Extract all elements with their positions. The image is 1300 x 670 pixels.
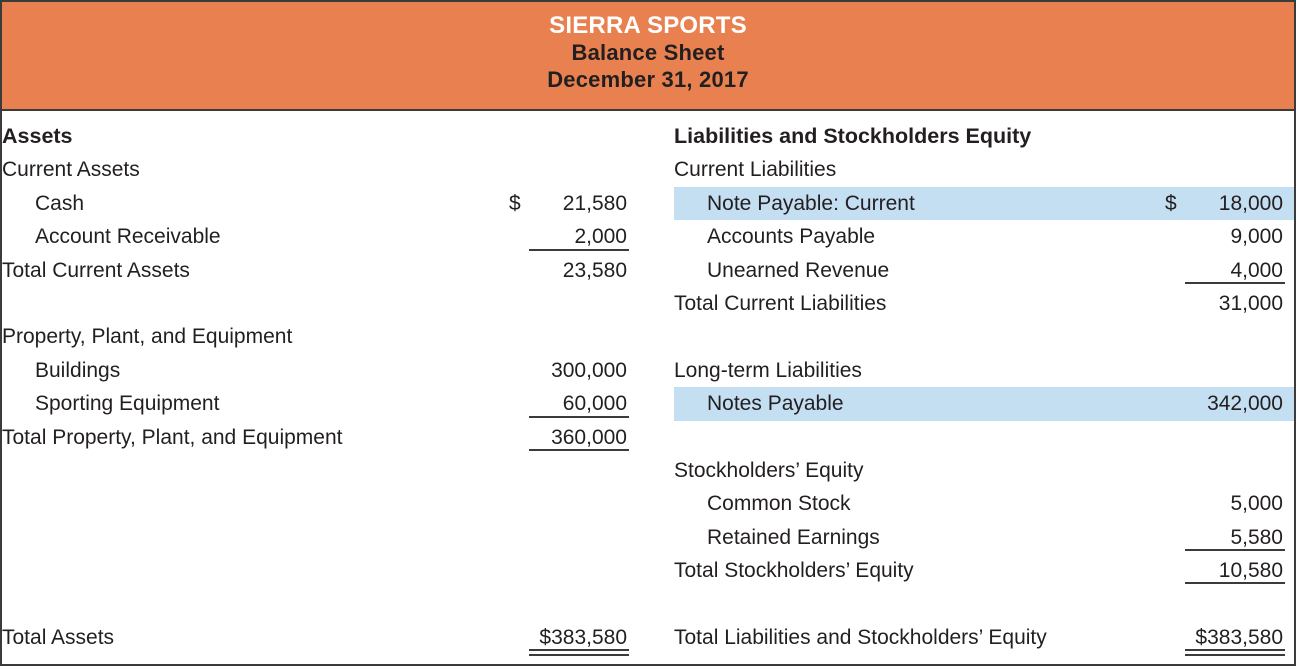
assets-rows: Current AssetsCash$21,580Account Receiva… [2,153,674,654]
line-item-amount: 21,580 [535,187,627,220]
amount-value: 4,000 [1230,259,1283,282]
line-item-label: Common Stock [674,487,1165,520]
amount-value: 23,580 [563,259,627,282]
line-item-amount: $383,580 [1191,621,1283,654]
line-item-row: Cash$21,580 [2,187,674,220]
amount-value: 21,580 [563,192,627,215]
spacer-row [2,554,674,587]
assets-heading: Assets [2,120,674,153]
spacer-row [2,587,674,620]
line-item-label: Buildings [2,354,509,387]
currency-symbol: $ [1165,187,1191,220]
line-item-row: Total Liabilities and Stockholders’ Equi… [674,621,1294,654]
assets-column: Assets Current AssetsCash$21,580Account … [2,111,674,664]
line-item-row: Current Liabilities [674,153,1294,186]
line-item-label: Total Current Liabilities [674,287,1165,320]
line-item-row: Account Receivable2,000 [2,220,674,253]
spacer-row [2,521,674,554]
single-rule [1185,582,1285,584]
liabilities-equity-rows: Current LiabilitiesNote Payable: Current… [674,153,1294,654]
line-item-label: Sporting Equipment [2,387,509,420]
spacer-row [2,287,674,320]
amount-value: 9,000 [1230,225,1283,248]
line-item-row: Long-term Liabilities [674,354,1294,387]
line-item-label: Accounts Payable [674,220,1165,253]
line-item-amount: 5,000 [1191,487,1283,520]
statement-title: Balance Sheet [2,40,1294,67]
line-item-amount: 342,000 [1191,387,1283,420]
spacer-row [2,487,674,520]
single-rule [1185,282,1285,284]
line-item-amount: 4,000 [1191,254,1283,287]
line-item-label: Property, Plant, and Equipment [2,320,509,353]
amount-value: 342,000 [1207,392,1283,415]
line-item-amount: 2,000 [535,220,627,253]
line-item-amount: 60,000 [535,387,627,420]
double-rule-lower [529,654,629,656]
line-item-row: Buildings300,000 [2,354,674,387]
line-item-row: Stockholders’ Equity [674,454,1294,487]
line-item-row: Total Stockholders’ Equity10,580 [674,554,1294,587]
line-item-label: Total Liabilities and Stockholders’ Equi… [674,621,1165,654]
currency-symbol: $ [509,187,535,220]
amount-value: 2,000 [574,225,627,248]
line-item-label: Cash [2,187,509,220]
line-item-amount: 31,000 [1191,287,1283,320]
spacer-row [674,421,1294,454]
line-item-label: Total Stockholders’ Equity [674,554,1165,587]
line-item-amount: 18,000 [1191,187,1283,220]
line-item-label: Stockholders’ Equity [674,454,1165,487]
single-rule [529,449,629,451]
line-item-row: Sporting Equipment60,000 [2,387,674,420]
line-item-row: Accounts Payable9,000 [674,220,1294,253]
balance-sheet: SIERRA SPORTS Balance Sheet December 31,… [0,0,1296,666]
line-item-label: Account Receivable [2,220,509,253]
amount-value: 5,580 [1230,526,1283,549]
line-item-label: Total Property, Plant, and Equipment [2,421,509,454]
line-item-row: Common Stock5,000 [674,487,1294,520]
amount-value: 60,000 [563,392,627,415]
line-item-label: Retained Earnings [674,521,1165,554]
double-rule-upper [1185,649,1285,651]
line-item-label: Total Assets [2,621,509,654]
line-item-amount: 10,580 [1191,554,1283,587]
single-rule [529,249,629,251]
line-item-row: Total Current Liabilities31,000 [674,287,1294,320]
amount-value: $383,580 [1195,626,1283,649]
amount-value: 18,000 [1219,192,1283,215]
line-item-amount: 9,000 [1191,220,1283,253]
liabilities-equity-column: Liabilities and Stockholders Equity Curr… [674,111,1294,664]
amount-value: 300,000 [551,359,627,382]
line-item-row: Note Payable: Current$18,000 [674,187,1294,220]
line-item-row: Unearned Revenue4,000 [674,254,1294,287]
line-item-label: Notes Payable [674,387,1165,420]
line-item-row: Current Assets [2,153,674,186]
double-rule-upper [529,649,629,651]
line-item-row: Total Assets$383,580 [2,621,674,654]
line-item-row: Retained Earnings5,580 [674,521,1294,554]
line-item-amount: 360,000 [535,421,627,454]
spacer-row [2,454,674,487]
liabilities-heading: Liabilities and Stockholders Equity [674,120,1294,153]
line-item-row: Property, Plant, and Equipment [2,320,674,353]
line-item-amount: 5,580 [1191,521,1283,554]
amount-value: 10,580 [1219,559,1283,582]
assets-heading-row: Assets [2,120,674,153]
amount-value: 5,000 [1230,492,1283,515]
amount-value: $383,580 [539,626,627,649]
double-rule-lower [1185,654,1285,656]
statement-header: SIERRA SPORTS Balance Sheet December 31,… [2,2,1294,111]
spacer-row [674,587,1294,620]
line-item-label: Total Current Assets [2,254,509,287]
amount-value: 31,000 [1219,292,1283,315]
line-item-label: Long-term Liabilities [674,354,1165,387]
line-item-label: Unearned Revenue [674,254,1165,287]
line-item-amount: 300,000 [535,354,627,387]
statement-period: December 31, 2017 [2,67,1294,94]
line-item-amount: $383,580 [535,621,627,654]
line-item-row: Notes Payable342,000 [674,387,1294,420]
statement-body: Assets Current AssetsCash$21,580Account … [2,111,1294,664]
line-item-row: Total Property, Plant, and Equipment360,… [2,421,674,454]
line-item-row: Total Current Assets23,580 [2,254,674,287]
company-name: SIERRA SPORTS [2,11,1294,40]
single-rule [1185,549,1285,551]
liabilities-heading-row: Liabilities and Stockholders Equity [674,120,1294,153]
amount-value: 360,000 [551,426,627,449]
spacer-row [674,320,1294,353]
line-item-amount: 23,580 [535,254,627,287]
line-item-label: Current Liabilities [674,153,1165,186]
line-item-label: Current Assets [2,153,509,186]
line-item-label: Note Payable: Current [674,187,1165,220]
single-rule [529,416,629,418]
